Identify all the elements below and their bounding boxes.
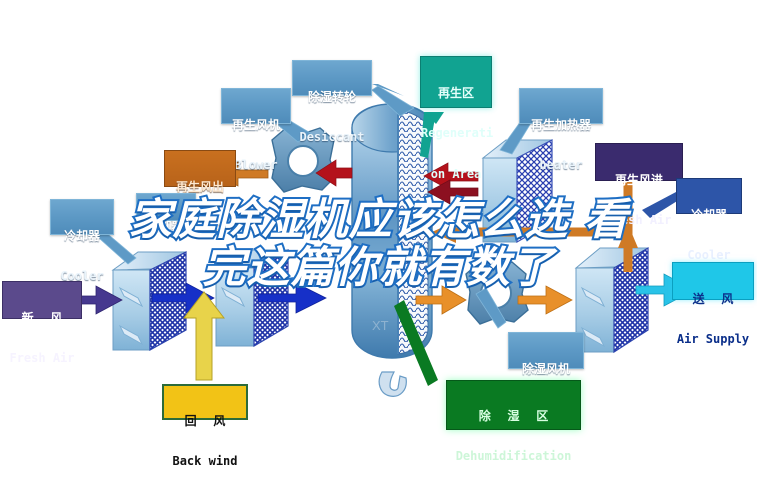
label-cooler-mid[interactable]: 冷却器	[136, 193, 196, 221]
label-dehumidifying-blower-cn: 除湿风机	[509, 363, 583, 376]
label-cooler-mid-cn: 冷却器	[137, 221, 195, 233]
label-exhaust[interactable]: 再生风出 Exhaust	[164, 150, 236, 187]
label-regeneration-blower[interactable]: 再生风机 Blower	[221, 88, 291, 124]
label-regeneration-area-cn: 再生区	[421, 87, 491, 100]
label-back-wind[interactable]: 回 风 Back wind	[162, 384, 248, 420]
label-regeneration-heater-en: heater	[520, 159, 602, 172]
label-cooler-right-en: Cooler	[677, 249, 741, 262]
label-fresh-air-in-cn: 新 风	[3, 312, 81, 325]
label-air-supply-cn: 送 风	[673, 293, 753, 306]
label-regeneration-heater-cn: 再生加热器	[520, 119, 602, 132]
diagram-canvas: XT	[0, 0, 757, 488]
label-dehumid-district-en-1: Dehumidification	[447, 450, 580, 463]
label-regeneration-blower-cn: 再生风机	[222, 119, 290, 132]
rotor-watermark: XT	[372, 318, 389, 333]
label-regeneration-area-en-2: on Area	[421, 168, 491, 181]
label-air-supply-en: Air Supply	[673, 333, 753, 346]
label-regeneration-fresh-air-in[interactable]: 再生风进 Fresh Air	[595, 143, 683, 181]
label-cooler-right[interactable]: 冷却器 Cooler	[676, 178, 742, 214]
label-back-wind-cn: 回 风	[164, 415, 246, 428]
label-air-supply[interactable]: 送 风 Air Supply	[672, 262, 754, 300]
label-regeneration-heater[interactable]: 再生加热器 heater	[519, 88, 603, 124]
label-regen-fresh-air-cn: 再生风进	[596, 174, 682, 187]
label-cooler-left[interactable]: 冷却器 Cooler	[50, 199, 114, 235]
label-regeneration-area-en-1: Regenerati	[421, 127, 491, 140]
supply-filter-unit	[576, 248, 648, 352]
label-fresh-air-in[interactable]: 新 风 Fresh Air	[2, 281, 82, 319]
label-back-wind-en: Back wind	[164, 455, 246, 468]
label-regen-fresh-air-en: Fresh Air	[596, 214, 682, 227]
label-desiccant-wheel-en: Desiccant	[293, 131, 371, 144]
label-desiccant-wheel[interactable]: 除湿转轮 Desiccant	[292, 60, 372, 96]
label-cooler-right-cn: 冷却器	[677, 209, 741, 222]
label-cooler-left-cn: 冷却器	[51, 230, 113, 243]
label-desiccant-wheel-cn: 除湿转轮	[293, 91, 371, 104]
label-regeneration-area[interactable]: 再生区 Regenerati on Area	[420, 56, 492, 108]
label-dehumidification-district[interactable]: 除 湿 区 Dehumidification District	[446, 380, 581, 430]
label-dehumidifying-blower[interactable]: 除湿风机 Blower	[508, 332, 584, 369]
label-fresh-air-in-en: Fresh Air	[3, 352, 81, 365]
label-dehumid-district-cn: 除 湿 区	[447, 410, 580, 423]
